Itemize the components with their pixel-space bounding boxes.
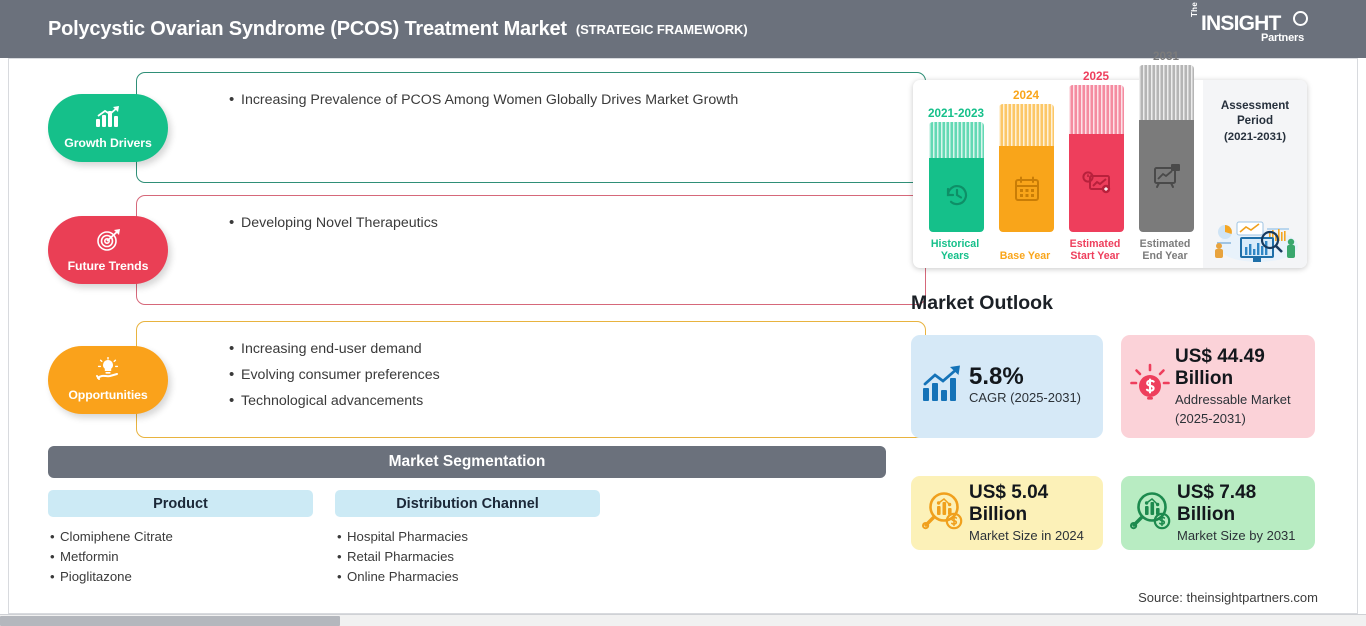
segmentation-item: Online Pharmacies [347, 567, 600, 587]
analytics-illustration-icon [1203, 202, 1307, 264]
timeline-bar-striped-top [1069, 85, 1124, 134]
strategy-bullet: Increasing Prevalence of PCOS Among Wome… [241, 87, 925, 113]
strategy-badge-label: Growth Drivers [64, 136, 151, 150]
strategy-badge-label: Opportunities [68, 388, 147, 402]
logo-partners-text: Partners [1261, 32, 1304, 44]
logo-the-text: The [1190, 2, 1199, 17]
segmentation-item: Metformin [60, 547, 313, 567]
timeline-bar-estimated-end-year: 2031 Estimated End Year [1135, 80, 1197, 268]
strategy-badge-opportunities[interactable]: Opportunities [48, 346, 168, 414]
outlook-card-label: Market Size by 2031 [1177, 526, 1309, 545]
timeline-bar-base-year: 2024 Base Year [995, 80, 1057, 268]
strategy-box-opportunities: Increasing end-user demandEvolving consu… [136, 321, 926, 438]
strategy-badge-growth-drivers[interactable]: Growth Drivers [48, 94, 168, 162]
segmentation-item: Pioglitazone [60, 567, 313, 587]
segmentation-item: Retail Pharmacies [347, 547, 600, 567]
strategy-badge-label: Future Trends [68, 259, 149, 273]
outlook-card-value: US$ 5.04 Billion [969, 482, 1097, 526]
timeline-bar-historical-years: 2021-2023 Historical Years [925, 80, 987, 268]
segmentation-column: ProductClomiphene CitrateMetforminPiogli… [48, 490, 313, 587]
timeline-bars: 2021-2023 Historical Years2024 Base Year… [913, 80, 1203, 268]
strategy-bullet: Developing Novel Therapeutics [241, 210, 925, 236]
lightbulb-hand-icon [95, 357, 121, 386]
outlook-card-value: 5.8% [969, 366, 1081, 388]
forecast-chart-icon [1069, 134, 1124, 232]
segmentation-column-title: Distribution Channel [335, 490, 600, 517]
logo-loop-icon [1293, 11, 1308, 26]
timeline-bar-year: 2024 [995, 89, 1057, 102]
source-text: Source: theinsightpartners.com [1138, 590, 1318, 605]
timeline-bar-striped-top [999, 104, 1054, 146]
timeline-bar-striped-top [1139, 65, 1194, 120]
segmentation-column-title: Product [48, 490, 313, 517]
insight-partners-logo: The INSIGHT Partners [1190, 11, 1308, 49]
timeline-bar-year: 2025 [1065, 70, 1127, 83]
segmentation-item: Hospital Pharmacies [347, 527, 600, 547]
timeline-bar-shape [1139, 65, 1194, 232]
timeline-bar-caption: Estimated Start Year [1061, 238, 1129, 262]
strategy-row-growth-drivers: Increasing Prevalence of PCOS Among Wome… [48, 72, 888, 183]
presentation-chart-icon [1139, 120, 1194, 232]
timeline-bar-caption: Historical Years [921, 238, 989, 262]
timeline-bar-year: 2021-2023 [925, 107, 987, 120]
magnifier-chart-icon [1129, 489, 1173, 538]
timeline-bar-shape [999, 104, 1054, 232]
strategy-row-opportunities: Increasing end-user demandEvolving consu… [48, 321, 888, 438]
outlook-card-market-size-2024[interactable]: US$ 5.04 BillionMarket Size in 2024 [911, 476, 1103, 550]
outlook-card-value: US$ 7.48 Billion [1177, 482, 1309, 526]
infographic-page: Polycystic Ovarian Syndrome (PCOS) Treat… [0, 0, 1366, 626]
timeline-bar-shape [929, 122, 984, 232]
assessment-timeline-card: 2021-2023 Historical Years2024 Base Year… [913, 80, 1307, 268]
outlook-card-market-size-2031[interactable]: US$ 7.48 BillionMarket Size by 2031 [1121, 476, 1315, 550]
outlook-card-label: Market Size in 2024 [969, 526, 1097, 545]
bar-chart-arrow-icon [95, 105, 121, 134]
timeline-bar-caption: Estimated End Year [1131, 238, 1199, 262]
target-dart-icon [95, 228, 121, 257]
page-title: Polycystic Ovarian Syndrome (PCOS) Treat… [48, 18, 567, 41]
assessment-years: (2021-2031) [1203, 128, 1307, 143]
page-subtitle: (STRATEGIC FRAMEWORK) [576, 22, 748, 37]
outlook-card-addressable-market[interactable]: US$ 44.49 BillionAddressable Market (202… [1121, 335, 1315, 438]
strategy-row-future-trends: Developing Novel Therapeutics Future Tre… [48, 195, 888, 305]
strategy-bullet: Evolving consumer preferences [241, 362, 925, 388]
market-outlook-title: Market Outlook [911, 292, 1053, 315]
history-clock-icon [929, 158, 984, 232]
strategy-bullet: Increasing end-user demand [241, 336, 925, 362]
timeline-bar-year: 2031 [1135, 50, 1197, 63]
outlook-card-value: US$ 44.49 Billion [1175, 346, 1307, 390]
outlook-card-label: Addressable Market (2025-2031) [1175, 390, 1307, 428]
timeline-bar-striped-top [929, 122, 984, 158]
segmentation-column: Distribution ChannelHospital PharmaciesR… [335, 490, 600, 587]
strategy-box-growth-drivers: Increasing Prevalence of PCOS Among Wome… [136, 72, 926, 183]
growth-bar-chart-icon [921, 364, 965, 409]
assessment-label-line2: Period [1203, 113, 1307, 128]
horizontal-scrollbar[interactable] [0, 614, 1366, 626]
timeline-bar-estimated-start-year: 2025 Estimated Start Year [1065, 80, 1127, 268]
outlook-card-cagr[interactable]: 5.8%CAGR (2025-2031) [911, 335, 1103, 438]
strategy-bullet: Technological advancements [241, 388, 925, 414]
strategy-badge-future-trends[interactable]: Future Trends [48, 216, 168, 284]
scrollbar-thumb[interactable] [0, 616, 340, 626]
strategy-box-future-trends: Developing Novel Therapeutics [136, 195, 926, 305]
timeline-bar-caption: Base Year [991, 250, 1059, 262]
magnifier-chart-icon [921, 489, 965, 538]
assessment-period-panel: Assessment Period (2021-2031) [1203, 80, 1307, 268]
timeline-bar-shape [1069, 85, 1124, 232]
assessment-label-line1: Assessment [1203, 80, 1307, 113]
segmentation-header: Market Segmentation [48, 446, 886, 478]
calendar-icon [999, 146, 1054, 232]
segmentation-item: Clomiphene Citrate [60, 527, 313, 547]
money-bulb-icon [1129, 363, 1171, 410]
outlook-card-label: CAGR (2025-2031) [969, 388, 1081, 407]
